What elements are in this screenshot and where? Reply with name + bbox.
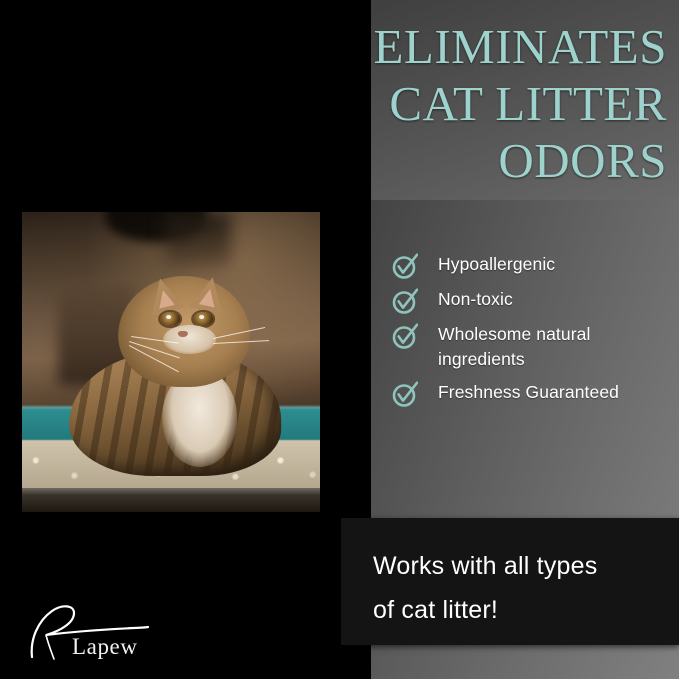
kitten-nose bbox=[178, 331, 189, 338]
caption-text: Works with all types of cat litter! bbox=[373, 544, 663, 632]
kitten-ear-right bbox=[189, 274, 229, 314]
list-item-label: Non-toxic bbox=[438, 287, 513, 312]
brand-logo: Lapew bbox=[24, 601, 174, 663]
caption-line-2: of cat litter! bbox=[373, 588, 663, 632]
kitten-whisker bbox=[213, 340, 269, 344]
kitten-litter-box-photo bbox=[22, 212, 320, 512]
check-circle-icon bbox=[392, 323, 418, 349]
kitten-ear-left bbox=[144, 275, 185, 316]
list-item-label: Hypoallergenic bbox=[438, 252, 555, 277]
kitten-whisker bbox=[213, 327, 265, 339]
kitten-head bbox=[118, 276, 250, 387]
kitten-eye-right bbox=[193, 312, 213, 326]
caption-box: Works with all types of cat litter! bbox=[341, 518, 679, 645]
list-item-label: Wholesome natural ingredients bbox=[438, 322, 672, 372]
check-circle-icon bbox=[392, 288, 418, 314]
brand-name: Lapew bbox=[72, 634, 138, 660]
list-item: Freshness Guaranteed bbox=[392, 380, 672, 407]
headline-line-2: CAT LITTER bbox=[247, 75, 667, 132]
check-circle-icon bbox=[392, 381, 418, 407]
product-advertisement: ELIMINATES CAT LITTER ODORS bbox=[0, 0, 679, 679]
headline: ELIMINATES CAT LITTER ODORS bbox=[247, 18, 667, 189]
headline-line-3: ODORS bbox=[247, 132, 667, 189]
feature-list: Hypoallergenic Non-toxic Wholesome natur… bbox=[392, 252, 672, 415]
check-circle-icon bbox=[392, 253, 418, 279]
list-item: Wholesome natural ingredients bbox=[392, 322, 672, 372]
caption-line-1: Works with all types bbox=[373, 544, 663, 588]
kitten bbox=[65, 254, 286, 476]
headline-line-1: ELIMINATES bbox=[247, 18, 667, 75]
list-item: Non-toxic bbox=[392, 287, 672, 314]
kitten-muzzle bbox=[163, 325, 216, 354]
list-item-label: Freshness Guaranteed bbox=[438, 380, 619, 405]
litter-box-tray-base bbox=[22, 488, 320, 512]
kitten-eye-left bbox=[160, 312, 180, 326]
list-item: Hypoallergenic bbox=[392, 252, 672, 279]
